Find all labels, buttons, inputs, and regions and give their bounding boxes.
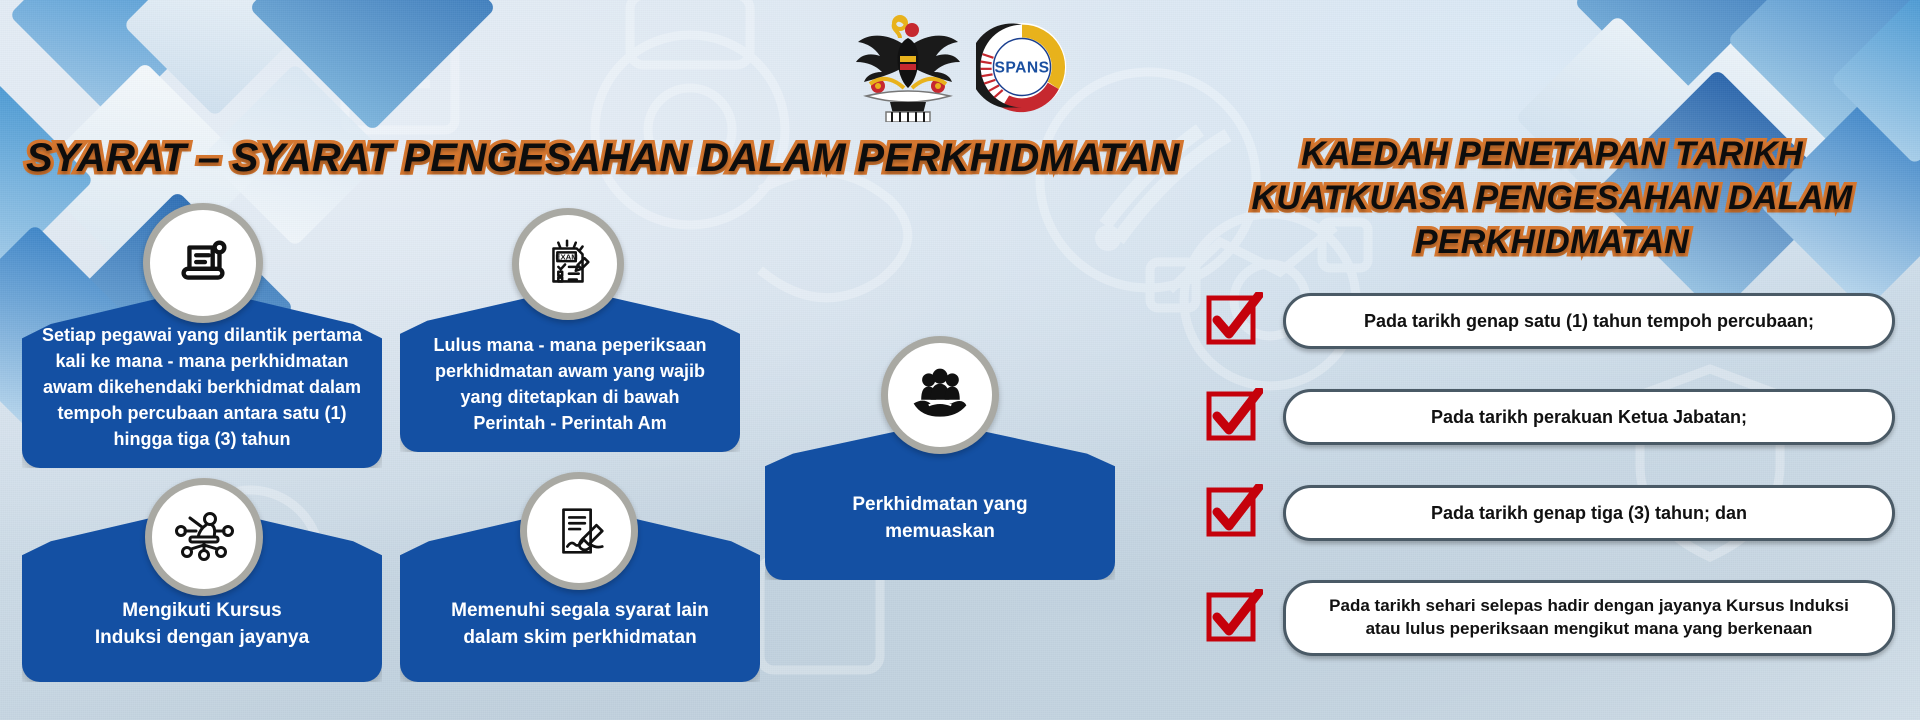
page-title-left: SYARAT – SYARAT PENGESAHAN DALAM PERKHID…	[26, 136, 1180, 181]
checkmark-icon	[1205, 388, 1263, 446]
effective-date-row-3[interactable]: Pada tarikh genap tiga (3) tahun; dan	[1205, 484, 1895, 542]
appointment-letter-icon-bubble	[143, 203, 263, 323]
pill-line: Pada tarikh genap satu (1) tahun tempoh …	[1364, 309, 1814, 333]
svg-text:SPANS: SPANS	[995, 60, 1050, 77]
effective-date-pill-1[interactable]: Pada tarikh genap satu (1) tahun tempoh …	[1283, 293, 1895, 349]
pill-line: Pada tarikh genap tiga (3) tahun; dan	[1431, 501, 1747, 525]
checkmark-icon	[1205, 292, 1263, 350]
satisfactory-service-icon	[908, 367, 972, 423]
page-title-right: KAEDAH PENETAPAN TARIKH KUATKUASA PENGES…	[1222, 132, 1882, 265]
card-line: Lulus mana - mana peperiksaan	[414, 332, 726, 358]
effective-date-pill-3[interactable]: Pada tarikh genap tiga (3) tahun; dan	[1283, 485, 1895, 541]
card-text: Mengikuti Kursus Induksi dengan jayanya	[22, 597, 382, 682]
card-text: Lulus mana - mana peperiksaan perkhidmat…	[400, 332, 740, 452]
card-line: awam dikehendaki berkhidmat dalam	[36, 374, 368, 400]
checkmark-icon	[1205, 484, 1263, 542]
effective-date-pill-2[interactable]: Pada tarikh perakuan Ketua Jabatan;	[1283, 389, 1895, 445]
logo-group: SPANS	[850, 12, 1068, 122]
effective-date-row-1[interactable]: Pada tarikh genap satu (1) tahun tempoh …	[1205, 292, 1895, 350]
signed-document-icon-bubble	[520, 472, 638, 590]
pill-line: atau lulus peperiksaan mengikut mana yan…	[1366, 618, 1813, 641]
appointment-letter-icon	[172, 232, 234, 294]
exam-paper-icon: EXAM	[537, 233, 599, 295]
card-line: yang ditetapkan di bawah	[414, 384, 726, 410]
card-text: Perkhidmatan yang memuaskan	[765, 491, 1115, 580]
card-line: memuaskan	[779, 518, 1101, 546]
effective-date-row-4[interactable]: Pada tarikh sehari selepas hadir dengan …	[1205, 580, 1895, 656]
card-line: Perkhidmatan yang	[779, 491, 1101, 519]
card-line: dalam skim perkhidmatan	[414, 624, 746, 652]
spans-logo: SPANS	[976, 21, 1068, 113]
card-line: kali ke mana - mana perkhidmatan	[36, 348, 368, 374]
card-text: Memenuhi segala syarat lain dalam skim p…	[400, 597, 760, 682]
card-text: Setiap pegawai yang dilantik pertama kal…	[22, 322, 382, 468]
checkbox-3[interactable]	[1205, 484, 1263, 542]
exam-paper-icon-bubble: EXAM	[512, 208, 624, 320]
card-line: Induksi dengan jayanya	[36, 624, 368, 652]
checkbox-1[interactable]	[1205, 292, 1263, 350]
card-line: Setiap pegawai yang dilantik pertama	[36, 322, 368, 348]
effective-date-pill-4[interactable]: Pada tarikh sehari selepas hadir dengan …	[1283, 580, 1895, 656]
card-line: tempoh percubaan antara satu (1)	[36, 400, 368, 426]
satisfactory-service-icon-bubble	[881, 336, 999, 454]
effective-date-row-2[interactable]: Pada tarikh perakuan Ketua Jabatan;	[1205, 388, 1895, 446]
signed-document-icon	[548, 500, 610, 562]
sarawak-coat-of-arms	[850, 12, 966, 122]
card-line: hingga tiga (3) tahun	[36, 426, 368, 452]
checkbox-2[interactable]	[1205, 388, 1263, 446]
card-line: Memenuhi segala syarat lain	[414, 597, 746, 625]
card-line: Perintah - Perintah Am	[414, 410, 726, 436]
pill-line: Pada tarikh perakuan Ketua Jabatan;	[1431, 405, 1747, 429]
checkbox-4[interactable]	[1205, 589, 1263, 647]
card-line: Mengikuti Kursus	[36, 597, 368, 625]
checkmark-icon	[1205, 589, 1263, 647]
induction-course-icon	[172, 505, 236, 569]
pill-line: Pada tarikh sehari selepas hadir dengan …	[1329, 595, 1849, 618]
induction-course-icon-bubble	[145, 478, 263, 596]
svg-text:EXAM: EXAM	[555, 253, 577, 262]
card-line: perkhidmatan awam yang wajib	[414, 358, 726, 384]
